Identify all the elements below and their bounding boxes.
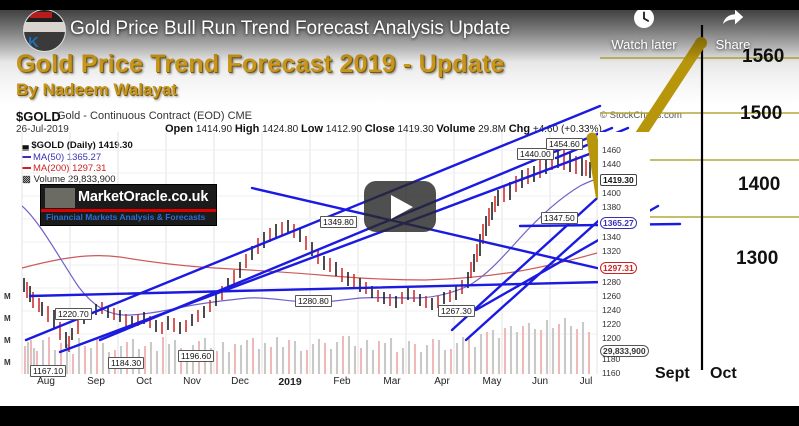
forecast-price-label: 1400	[738, 174, 780, 196]
video-player[interactable]: Gold Price Trend Forecast 2019 - Update …	[0, 0, 799, 426]
x-tick-year: 2019	[278, 376, 301, 388]
volume-axis-label: M	[4, 336, 11, 345]
swing-callout: 1454.60	[546, 138, 583, 150]
letterbox-bottom	[0, 406, 799, 426]
watermark-photo-icon	[45, 188, 75, 208]
avatar-logo-bar	[30, 12, 52, 18]
price-tick: 1220	[602, 319, 621, 329]
volume-axis-label: M	[4, 314, 11, 323]
x-tick: Nov	[183, 376, 201, 387]
x-tick: Sep	[87, 376, 105, 387]
swing-callout: 1280.80	[295, 295, 332, 307]
forecast-month-sept: Sept	[655, 365, 690, 383]
price-tick: 1160	[602, 368, 620, 378]
watermark-name: MarketOracle.co.uk	[78, 189, 208, 205]
x-tick: Mar	[383, 376, 400, 387]
price-tick: 1440	[602, 159, 621, 169]
swing-callout: 1347.50	[541, 212, 578, 224]
letterbox-top	[0, 0, 799, 10]
swing-callout: 1220.70	[55, 308, 92, 320]
volume-axis-label: M	[4, 292, 11, 301]
swing-callout: 1349.80	[320, 216, 357, 228]
avatar-header-band	[24, 10, 65, 22]
x-tick: Jun	[532, 376, 548, 387]
watch-later-button[interactable]: Watch later	[601, 6, 687, 52]
x-axis: Aug Sep Oct Nov Dec 2019 Feb Mar Apr May…	[22, 376, 600, 392]
candlestick-series	[24, 148, 590, 352]
video-title[interactable]: Gold Price Bull Run Trend Forecast Analy…	[70, 18, 510, 40]
volume-axis-label: M	[4, 358, 11, 367]
swing-callout: 1184.30	[108, 357, 144, 369]
price-tick: 1280	[602, 277, 621, 287]
x-tick: Aug	[37, 376, 55, 387]
channel-avatar[interactable]: K	[23, 9, 66, 52]
price-tick: 1320	[602, 246, 621, 256]
avatar-glyph-icon: K	[28, 34, 39, 51]
last-price-box: 1419.30	[600, 174, 637, 186]
price-tick: 1460	[602, 145, 621, 155]
swing-callout: 1267.30	[438, 305, 475, 317]
x-tick: May	[483, 376, 502, 387]
ma50-price-box: 1365.27	[600, 217, 637, 229]
watch-later-label: Watch later	[601, 37, 687, 52]
x-tick: Apr	[434, 376, 450, 387]
price-tick: 1400	[602, 188, 621, 198]
play-triangle-icon	[391, 195, 413, 219]
x-tick: Dec	[231, 376, 249, 387]
forecast-month-oct: Oct	[710, 365, 737, 383]
swing-callout: 1196.60	[178, 350, 214, 362]
x-tick: Feb	[333, 376, 350, 387]
x-tick: Oct	[136, 376, 152, 387]
price-tick: 1240	[602, 305, 621, 315]
price-tick: 1340	[602, 232, 621, 242]
play-button[interactable]	[364, 181, 436, 232]
share-label: Share	[700, 37, 766, 52]
price-axis: 1460 1440 1419.30 1400 1380 1365.27 1340…	[598, 132, 650, 377]
watermark-tagline: Financial Markets Analysis & Forecasts	[46, 212, 205, 222]
forecast-price-label: 1500	[740, 103, 782, 125]
price-tick: 1380	[602, 202, 621, 212]
price-tick: 1200	[602, 333, 621, 343]
ma200-price-box: 1297.31	[600, 262, 637, 274]
share-button[interactable]: Share	[700, 6, 766, 52]
watermark: MarketOracle.co.uk Financial Markets Ana…	[40, 184, 217, 226]
price-tick: 1180	[602, 354, 620, 364]
price-tick: 1260	[602, 291, 621, 301]
x-tick: Jul	[580, 376, 593, 387]
forecast-price-label: 1300	[736, 248, 778, 270]
